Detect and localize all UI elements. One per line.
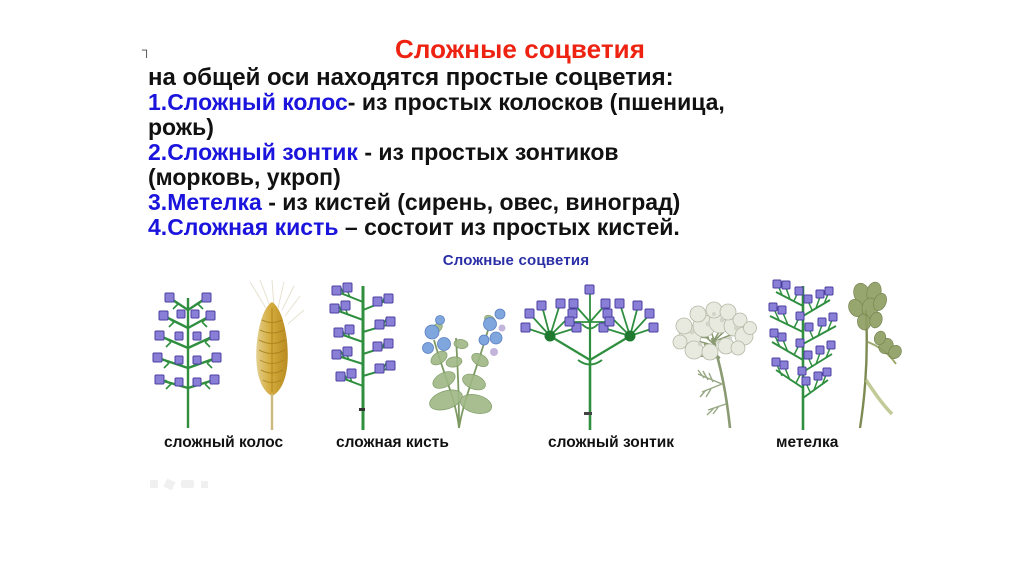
- list-item-4: 4.Сложная кисть – состоит из простых кис…: [148, 215, 892, 240]
- figure-title: Сложные соцветия: [136, 252, 896, 269]
- caption-row: сложный колос сложная кисть сложный зонт…: [136, 434, 896, 462]
- list-item-2: 2.Сложный зонтик - из простых зонтиков: [148, 140, 892, 165]
- inflorescence-figure: Сложные соцветия: [136, 248, 896, 478]
- faint-toolbar-artifact: [150, 478, 240, 490]
- list-item-3-term: Метелка: [167, 189, 262, 215]
- panicle-diagram: [758, 280, 848, 430]
- list-item-2-cont-text: (морковь, укроп): [148, 164, 341, 190]
- caption-compound-raceme: сложная кисть: [336, 434, 449, 452]
- list-item-4-term: Сложная кисть: [167, 214, 338, 240]
- lead-sentence: на общей оси находятся простые соцветия:: [148, 65, 892, 91]
- oat-panicle-photo: [842, 280, 902, 430]
- specimen-row: [136, 280, 896, 430]
- faint-artifact-icon-2: [164, 478, 176, 490]
- veronica-plant-photo: [404, 280, 514, 430]
- faint-artifact-icon-4: [201, 481, 208, 488]
- list-item-2-cont: (морковь, укроп): [148, 165, 892, 190]
- wheat-ear-photo: [232, 280, 312, 430]
- slide-text-block: Сложные соцветия на общей оси находятся …: [148, 36, 892, 239]
- list-item-4-rest: – состоит из простых кистей.: [339, 214, 680, 240]
- list-item-1: 1.Сложный колос- из простых колосков (пш…: [148, 90, 892, 115]
- faint-artifact-icon-3: [181, 480, 194, 488]
- caption-panicle: метелка: [776, 434, 838, 452]
- faint-artifact-icon-1: [150, 480, 158, 488]
- list-item-1-cont: рожь): [148, 115, 892, 140]
- page-title: Сложные соцветия: [148, 36, 892, 64]
- slide-canvas: Сложные соцветия на общей оси находятся …: [0, 0, 1024, 574]
- list-item-1-rest: - из простых колосков (пшеница,: [348, 89, 725, 115]
- caption-compound-umbel: сложный зонтик: [548, 434, 674, 452]
- list-item-3-number: 3.: [148, 189, 167, 215]
- list-item-3-rest: - из кистей (сирень, овес, виноград): [262, 189, 681, 215]
- list-item-3: 3.Метелка - из кистей (сирень, овес, вин…: [148, 190, 892, 215]
- list-item-2-term: Сложный зонтик: [167, 139, 358, 165]
- compound-spike-diagram: [144, 280, 232, 430]
- wild-carrot-photo: [664, 280, 764, 430]
- caption-compound-spike: сложный колос: [164, 434, 283, 452]
- compound-raceme-diagram: [318, 280, 408, 430]
- list-item-2-rest: - из простых зонтиков: [358, 139, 619, 165]
- list-item-1-cont-text: рожь): [148, 114, 214, 140]
- list-item-1-number: 1.: [148, 89, 167, 115]
- list-item-1-term: Сложный колос: [167, 89, 348, 115]
- compound-umbel-diagram: [520, 280, 660, 430]
- list-item-4-number: 4.: [148, 214, 167, 240]
- list-item-2-number: 2.: [148, 139, 167, 165]
